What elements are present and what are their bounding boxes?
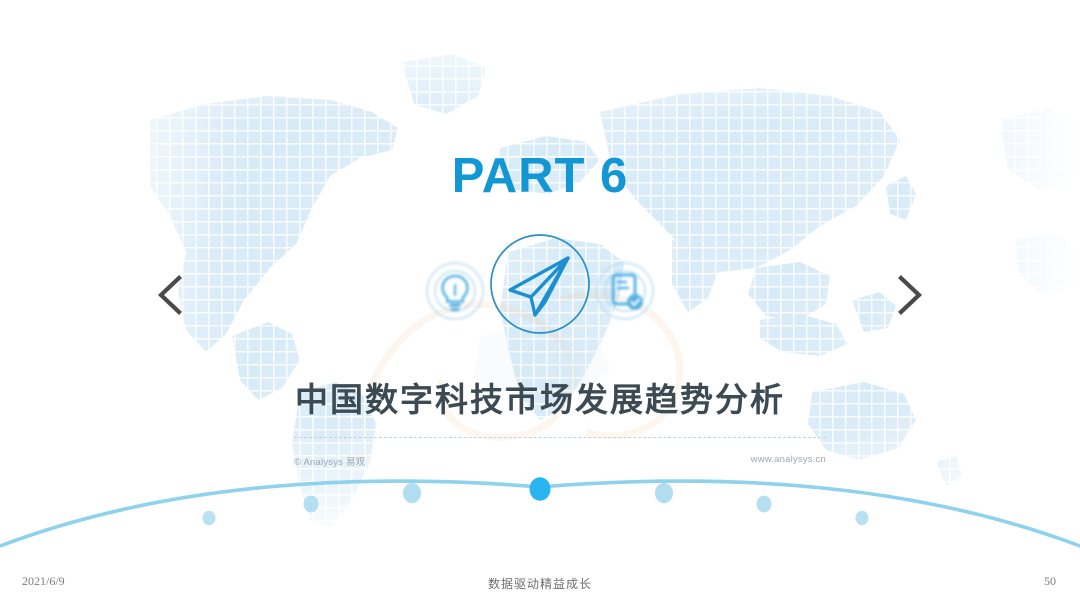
document-check-icon <box>594 260 656 322</box>
progress-dot[interactable] <box>856 511 869 526</box>
lightbulb-icon <box>424 260 486 322</box>
progress-dot-active[interactable] <box>530 477 551 501</box>
page-number: 50 <box>1044 574 1056 589</box>
progress-dot[interactable] <box>203 511 216 526</box>
chevron-right-glyph <box>892 272 928 318</box>
chevron-left-icon[interactable] <box>146 272 194 320</box>
progress-dot[interactable] <box>403 483 421 503</box>
progress-dot[interactable] <box>757 496 772 513</box>
progress-dot[interactable] <box>655 483 673 503</box>
footer-slogan: 数据驱动精益成长 <box>0 575 1080 592</box>
page-title: 中国数字科技市场发展趋势分析 <box>0 373 1080 421</box>
chevron-left-glyph <box>152 272 188 318</box>
progress-arc <box>0 462 1080 548</box>
paper-plane-icon <box>488 232 592 336</box>
divider <box>294 437 826 438</box>
part-label: PART 6 <box>0 148 1080 204</box>
icon-cluster <box>420 232 660 350</box>
progress-dot[interactable] <box>304 496 319 513</box>
chevron-right-icon[interactable] <box>886 272 934 320</box>
presentation-slide: PART 6 <box>0 0 1080 608</box>
progress-arc-svg <box>0 462 1080 548</box>
